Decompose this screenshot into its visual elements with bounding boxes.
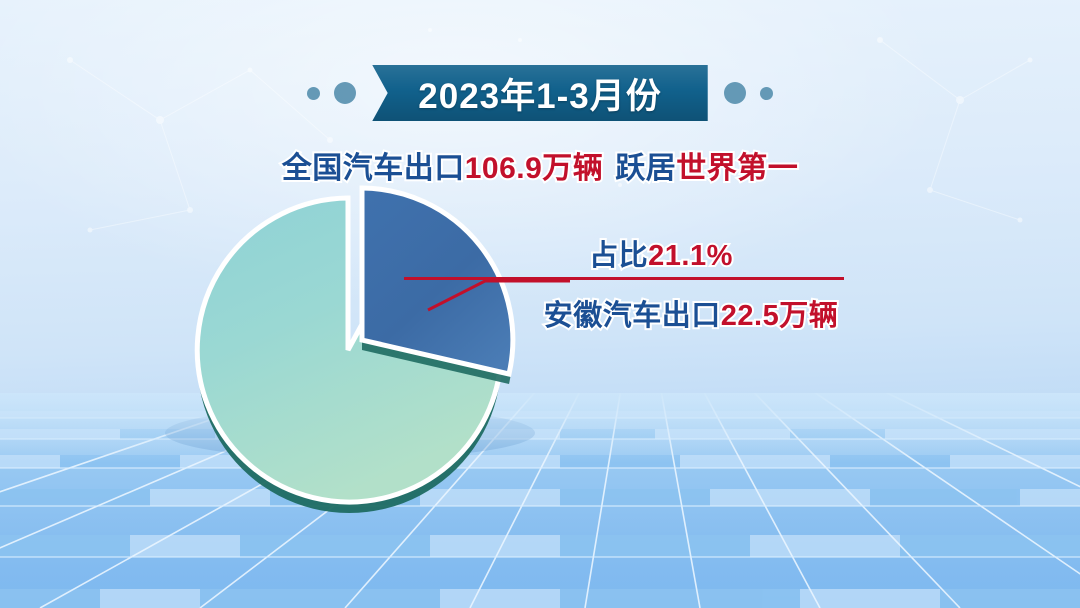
decorative-dot-icon: [724, 82, 746, 104]
annotation-detail-value: 22.5万辆: [721, 300, 838, 332]
annotation-share-value: 21.1%: [648, 240, 733, 272]
annotation-share-label: 占比: [589, 240, 648, 272]
banner-dots-left: [307, 82, 356, 104]
headline-part3: 跃居: [615, 152, 676, 185]
title-banner: 2023年1-3月份: [0, 62, 1080, 124]
annotation-detail: 安徽汽车出口22.5万辆: [470, 292, 930, 334]
decorative-dot-icon: [334, 82, 356, 104]
banner-ribbon: 2023年1-3月份: [372, 65, 707, 121]
decorative-dot-icon: [760, 87, 773, 100]
headline-part4: 世界第一: [676, 152, 798, 185]
annotation-share: 占比21.1%: [470, 232, 930, 274]
annotation-detail-label: 安徽汽车出口: [544, 300, 721, 332]
infographic-stage: 2023年1-3月份 全国汽车出口106.9万辆跃居世界第一: [0, 0, 1080, 608]
decorative-dot-icon: [307, 87, 320, 100]
pie-chart-svg: [140, 175, 570, 535]
banner-dots-right: [724, 82, 773, 104]
pie-chart: [140, 175, 570, 535]
annotation-block: 占比21.1% 安徽汽车出口22.5万辆: [470, 232, 930, 334]
annotation-rule: [404, 277, 844, 280]
banner-title: 2023年1-3月份: [418, 68, 661, 119]
